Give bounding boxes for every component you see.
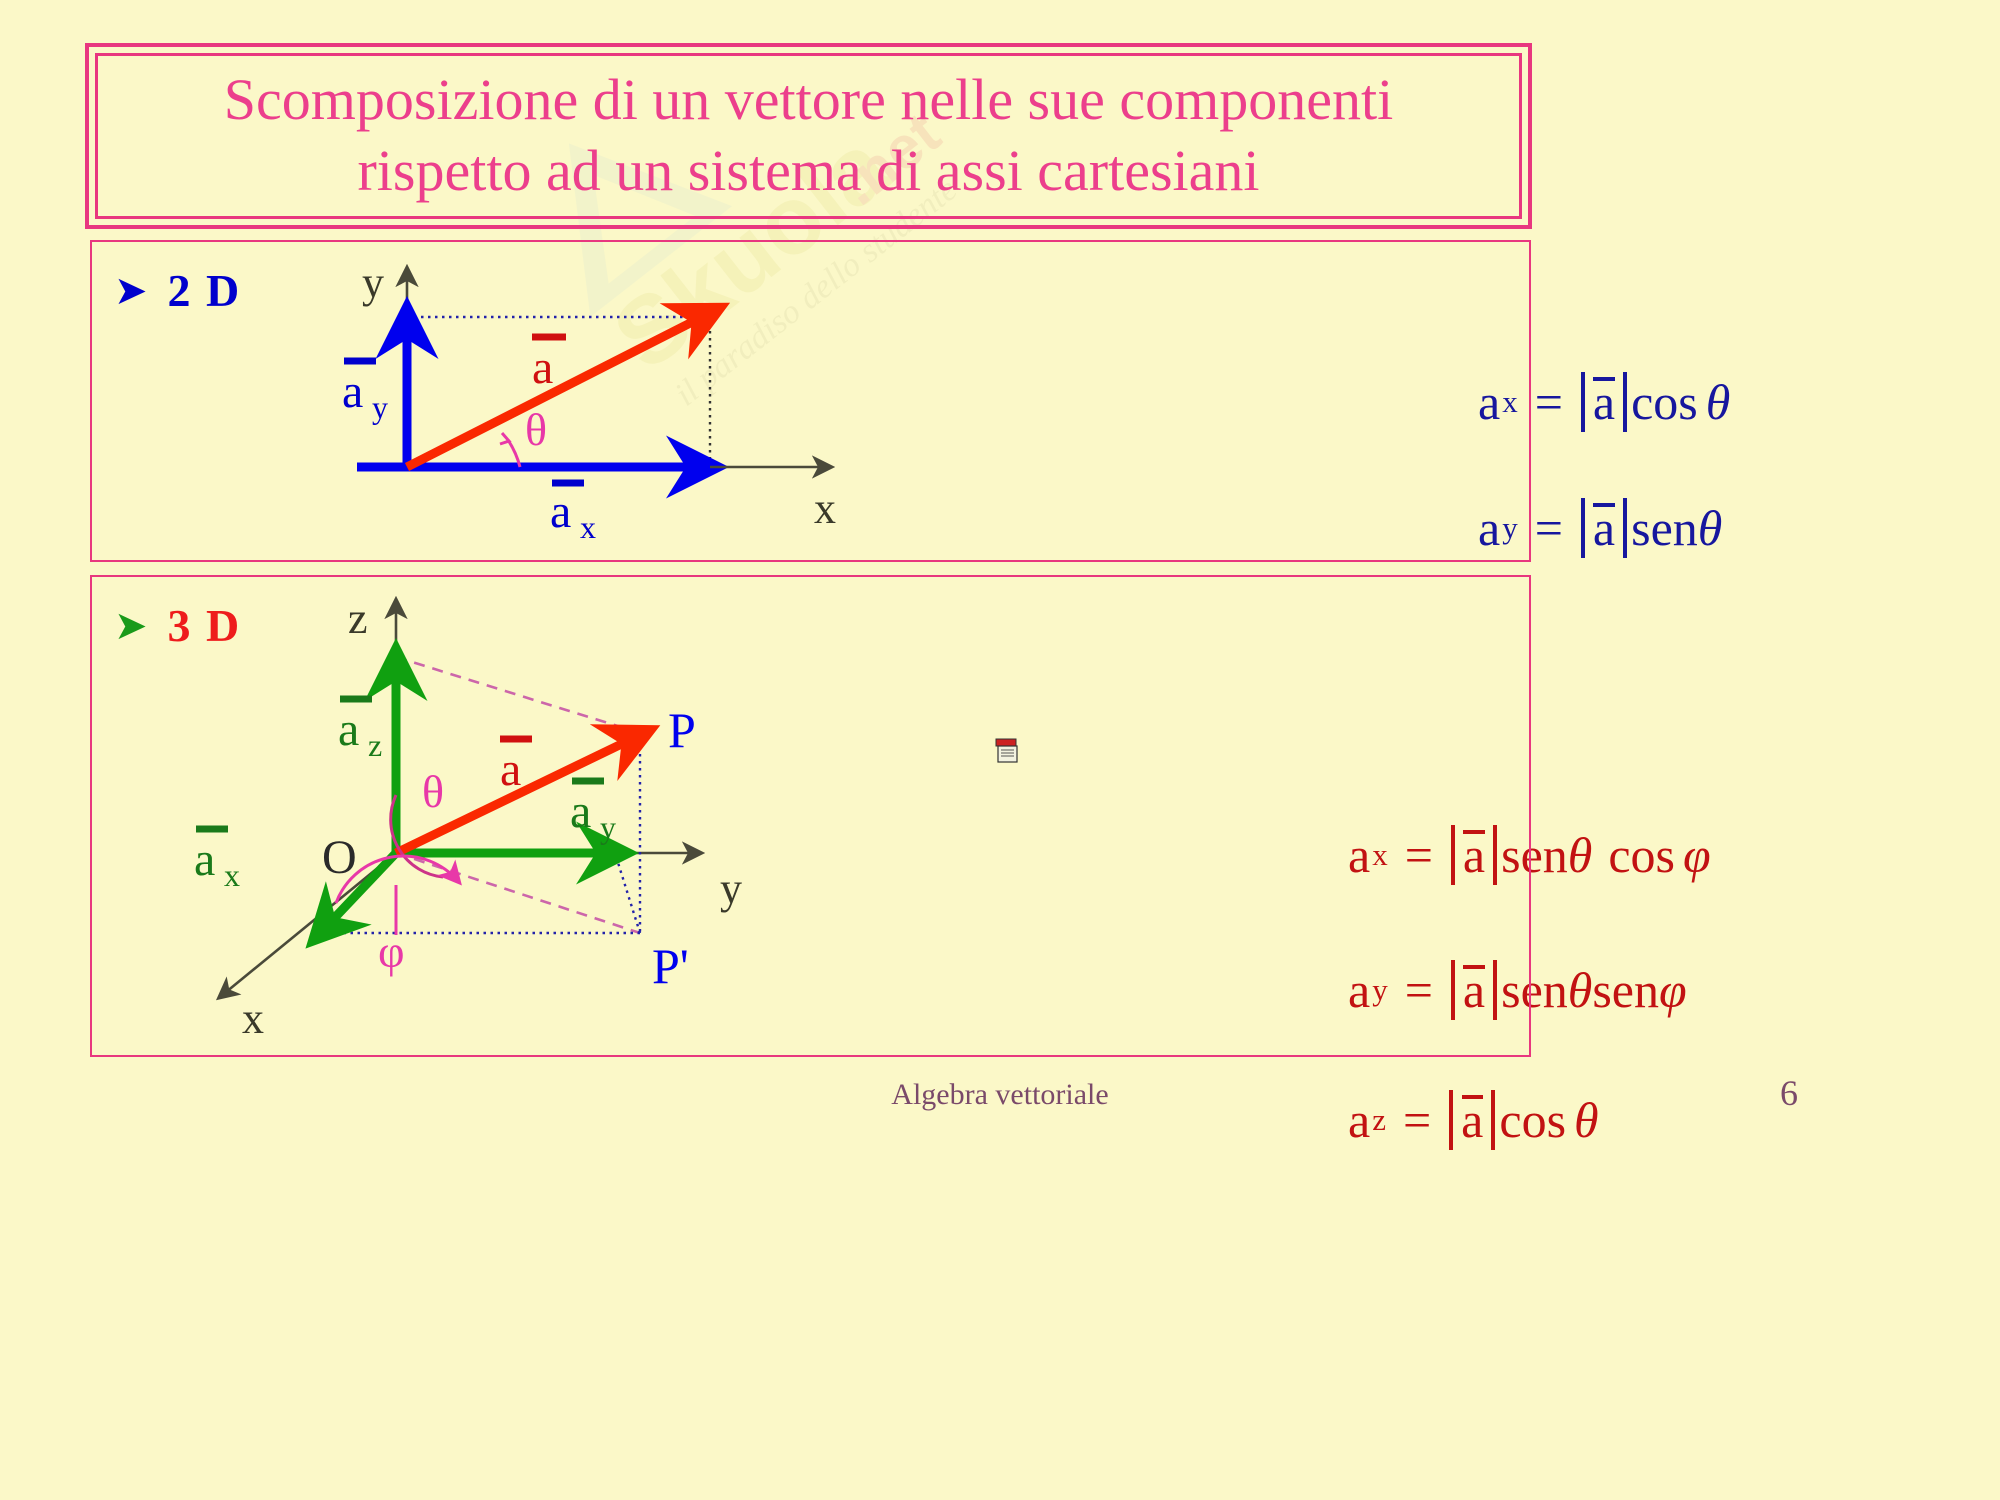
formula-ax-2d-angle: θ (1698, 373, 1731, 431)
page-title: Scomposizione di un vettore nelle sue co… (89, 47, 1528, 225)
component-ay-label-3d: a y (570, 781, 616, 845)
svg-text:a: a (532, 341, 553, 394)
dashed-line-z-to-p-3d (396, 657, 640, 733)
dotted-pprime-to-yaxis-3d (615, 853, 640, 933)
dashed-line-o-to-pprime-3d (396, 853, 640, 933)
arrow-bullet-icon-3d: ➤ (114, 606, 148, 646)
angle-theta-arrowhead-2d (500, 433, 509, 444)
formula-ay-3d-fn2: sen (1592, 961, 1659, 1019)
svg-text:a: a (342, 365, 363, 418)
axis-y-label-3d: y (720, 864, 742, 913)
angle-theta-label-2d: θ (525, 404, 547, 455)
diagram-3d: z y x θ φ O P P' a z a a y (200, 585, 980, 1050)
svg-text:x: x (224, 857, 240, 893)
angle-phi-label-3d: φ (378, 926, 405, 977)
formula-ay-3d-angle2: φ (1659, 961, 1687, 1019)
formula-ax-2d-magnitude: a (1581, 372, 1627, 432)
formula-ax-3d-angle2: φ (1675, 826, 1711, 884)
axis-y-label-2d: y (362, 258, 384, 307)
svg-text:a: a (570, 785, 591, 838)
formula-ay-2d-fn: sen (1631, 499, 1698, 557)
title-line-1: Scomposizione di un vettore nelle sue co… (224, 67, 1393, 132)
axis-z-label-3d: z (348, 594, 368, 643)
formula-ay-3d-angle1: θ (1568, 961, 1593, 1019)
point-p-label-3d: P (668, 702, 696, 758)
svg-text:a: a (550, 485, 571, 538)
section-2d-label: 2 D (168, 264, 242, 317)
svg-text:z: z (368, 727, 382, 763)
formula-ay-2d-angle: θ (1698, 499, 1723, 557)
title-line-2: rispetto ad un sistema di assi cartesian… (357, 138, 1259, 203)
arrow-bullet-icon: ➤ (114, 271, 148, 311)
svg-text:x: x (580, 509, 596, 545)
footer-page-number: 6 (1780, 1072, 1798, 1114)
formula-ay-2d-magnitude: a (1581, 498, 1627, 558)
formula-ax-2d-fn: cos (1631, 373, 1698, 431)
point-pprime-label-3d: P' (652, 938, 689, 994)
diagram-2d: y x θ a a y a x (380, 255, 940, 560)
formula-ax-3d-fn2: cos (1592, 826, 1675, 884)
svg-text:a: a (194, 833, 215, 886)
footer-text: Algebra vettoriale (0, 1078, 2000, 1112)
component-az-label-3d: a z (338, 699, 382, 763)
component-ax-label-3d: a x (194, 829, 240, 893)
slide-title-frame: Scomposizione di un vettore nelle sue co… (85, 43, 1532, 229)
origin-label-3d: O (322, 831, 357, 884)
svg-text:y: y (600, 809, 616, 845)
bullet-2d: ➤ 2 D (114, 264, 241, 317)
svg-text:a: a (338, 703, 359, 756)
axis-x-label-2d: x (814, 484, 836, 533)
angle-theta-label-3d: θ (422, 766, 444, 817)
component-ax-label-2d: a x (550, 483, 596, 545)
svg-text:y: y (372, 389, 388, 425)
svg-text:a: a (500, 743, 521, 796)
axis-x-label-3d: x (242, 994, 264, 1043)
formula-ax-3d-angle1: θ (1568, 826, 1593, 884)
